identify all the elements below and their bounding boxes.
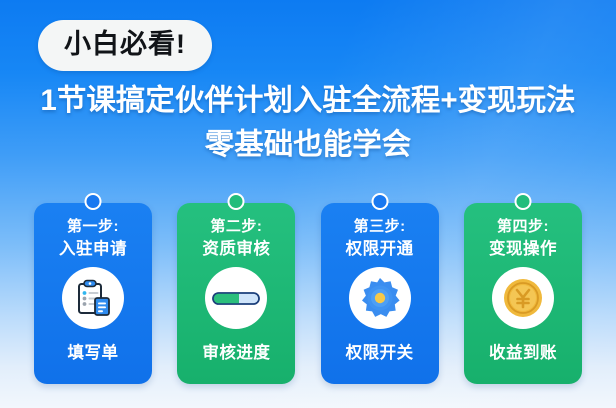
step-card-1[interactable]: 第一步: 入驻申请 [34,203,152,384]
step-card-4[interactable]: 第四步: 变现操作 [464,203,582,384]
progress-bar-icon [211,276,261,320]
step-subtitle-2: 资质审核 [202,241,270,258]
subheadline: 零基础也能学会 [0,128,616,162]
gear-settings-icon [357,275,403,321]
step-icon-wrap-1 [62,267,124,329]
step-node-dot-1 [85,193,102,210]
step-icon-wrap-4 [492,267,554,329]
step-subtitle-1: 入驻申请 [59,241,127,258]
step-node-dot-2 [228,193,245,210]
step-node-dot-3 [371,193,388,210]
step-card-2[interactable]: 第二步: 资质审核 审核进度 [177,203,295,384]
poster-header: 小白必看! 1节课搞定伙伴计划入驻全流程+变现玩法 零基础也能学会 [0,0,616,162]
step-title-3: 第三步: [354,219,406,235]
step-title-4: 第四步: [497,219,549,235]
step-footer-3: 权限开关 [346,339,414,363]
step-icon-wrap-3 [349,267,411,329]
step-icon-wrap-2 [205,267,267,329]
step-footer-1: 填写单 [68,339,119,363]
highlight-badge: 小白必看! [38,20,212,71]
step-title-1: 第一步: [67,219,119,235]
step-footer-4: 收益到账 [489,339,557,363]
step-node-dot-4 [514,193,531,210]
badge-row: 小白必看! [0,20,616,71]
step-title-2: 第二步: [210,219,262,235]
promo-poster: 小白必看! 1节课搞定伙伴计划入驻全流程+变现玩法 零基础也能学会 第一步: 入… [0,0,616,408]
steps-container: 第一步: 入驻申请 [0,203,616,385]
clipboard-checklist-icon [71,276,115,320]
headline: 1节课搞定伙伴计划入驻全流程+变现玩法 [0,84,616,118]
step-footer-2: 审核进度 [202,339,270,363]
step-subtitle-4: 变现操作 [489,241,557,258]
step-card-3[interactable]: 第三步: 权限开通 权限开关 [321,203,439,384]
yuan-coin-icon [501,276,545,320]
step-subtitle-3: 权限开通 [346,241,414,258]
